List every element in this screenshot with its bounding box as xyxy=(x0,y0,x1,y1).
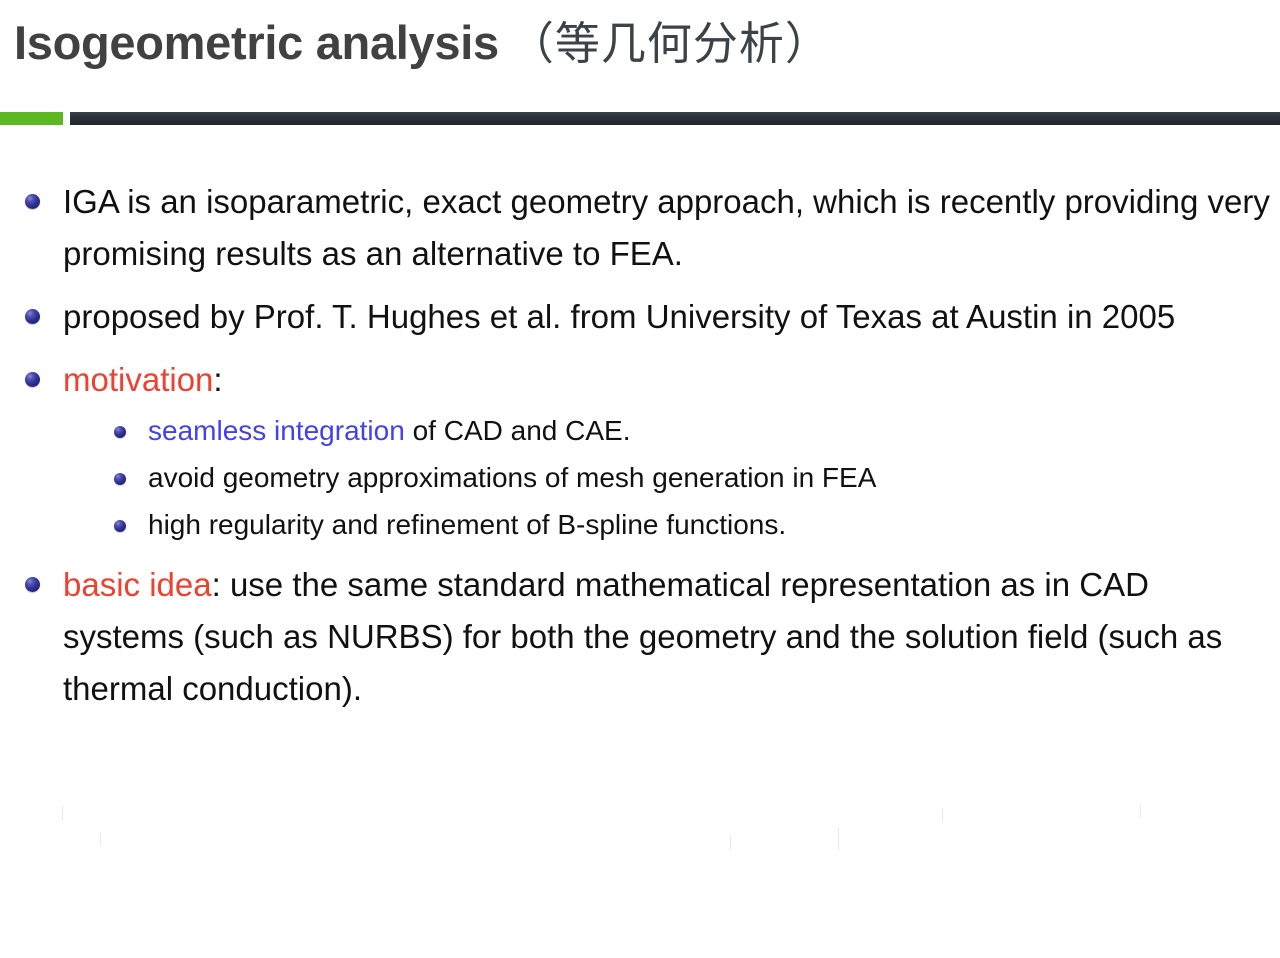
sphere-sub-bullet-icon xyxy=(114,520,126,532)
motivation-label: motivation xyxy=(63,361,213,398)
sub-bullet-text: of CAD and CAE. xyxy=(405,415,631,446)
sub-bullet-text: high regularity and refinement of B-spli… xyxy=(148,509,786,540)
sub-bullet-avoid-approximations: avoid geometry approximations of mesh ge… xyxy=(63,455,1280,501)
accent-rule-green xyxy=(0,112,63,125)
sphere-sub-bullet-icon xyxy=(114,473,126,485)
slide-title-english: Isogeometric analysis xyxy=(14,16,499,70)
basic-idea-body: : use the same standard mathematical rep… xyxy=(63,566,1222,707)
basic-idea-label: basic idea xyxy=(63,566,212,603)
motivation-colon: : xyxy=(213,361,222,398)
sub-bullet-seamless-integration: seamless integration of CAD and CAE. xyxy=(63,408,1280,454)
bullet-iga-definition: IGA is an isoparametric, exact geometry … xyxy=(0,176,1280,280)
sub-bullet-lead: seamless integration xyxy=(148,415,405,446)
sphere-sub-bullet-icon xyxy=(114,426,126,438)
slide-canvas: Isogeometric analysis （等几何分析） IGA is an … xyxy=(0,0,1280,958)
bullet-text: proposed by Prof. T. Hughes et al. from … xyxy=(63,291,1280,343)
bullet-list: IGA is an isoparametric, exact geometry … xyxy=(0,176,1280,715)
bullet-text: motivation: xyxy=(63,354,1280,406)
slide-body: IGA is an isoparametric, exact geometry … xyxy=(0,176,1280,726)
sub-bullet-high-regularity: high regularity and refinement of B-spli… xyxy=(63,502,1280,548)
scan-artifacts xyxy=(0,800,1280,860)
bullet-text: IGA is an isoparametric, exact geometry … xyxy=(63,176,1280,280)
divider-rule-dark xyxy=(70,112,1280,125)
bullet-motivation: motivation: seamless integration of CAD … xyxy=(0,354,1280,548)
sphere-bullet-icon xyxy=(25,194,40,209)
sub-bullet-text: avoid geometry approximations of mesh ge… xyxy=(148,462,876,493)
sphere-bullet-icon xyxy=(25,577,40,592)
bullet-proposed-by: proposed by Prof. T. Hughes et al. from … xyxy=(0,291,1280,343)
slide-title-chinese: （等几何分析） xyxy=(509,17,831,71)
bullet-text: basic idea: use the same standard mathem… xyxy=(63,559,1280,715)
sub-bullet-list: seamless integration of CAD and CAE. avo… xyxy=(63,408,1280,548)
bullet-basic-idea: basic idea: use the same standard mathem… xyxy=(0,559,1280,715)
sphere-bullet-icon xyxy=(25,372,40,387)
slide-title: Isogeometric analysis （等几何分析） xyxy=(14,16,831,71)
sphere-bullet-icon xyxy=(25,309,40,324)
